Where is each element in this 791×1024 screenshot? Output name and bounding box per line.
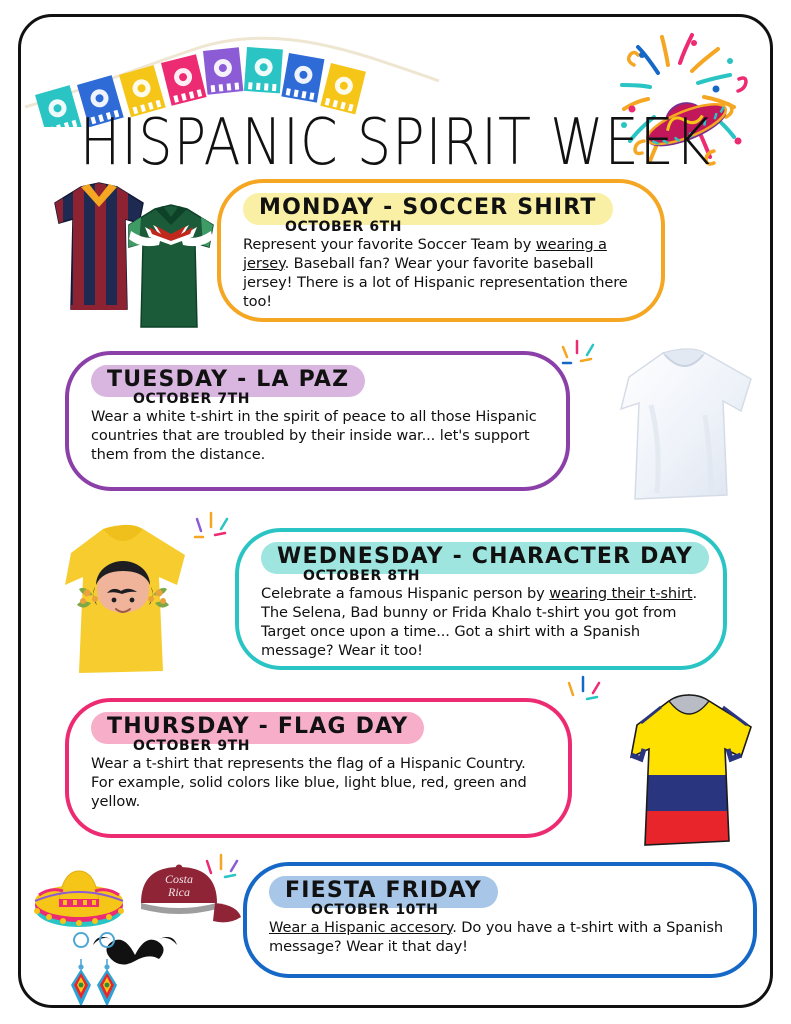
cap-brand-line1: Costa <box>165 872 193 886</box>
day-body-monday: Represent your favorite Soccer Team by w… <box>243 236 639 312</box>
frida-tshirt-image <box>43 515 213 687</box>
body-text-after: . Baseball fan? Wear your favorite baseb… <box>243 255 628 310</box>
day-date-friday: OCTOBER 10TH <box>311 903 731 917</box>
day-body-thursday: Wear a t-shirt that represents the flag … <box>91 755 546 812</box>
day-body-wednesday: Celebrate a famous Hispanic person by we… <box>261 585 701 661</box>
day-body-tuesday: Wear a white t-shirt in the spirit of pe… <box>91 408 544 465</box>
body-text-before: Wear a t-shirt that represents the flag … <box>91 755 527 810</box>
white-tshirt-image <box>599 339 773 509</box>
body-text-underlined: Wear a Hispanic accesory <box>269 919 452 936</box>
body-text-before: Wear a white t-shirt in the spirit of pe… <box>91 408 537 463</box>
body-text-underlined: wearing their t-shirt <box>549 585 692 602</box>
body-text-before: Celebrate a famous Hispanic person by <box>261 585 549 602</box>
confetti-sprinkle-icon <box>189 501 233 541</box>
body-text-before: Represent your favorite Soccer Team by <box>243 236 536 253</box>
day-body-friday: Wear a Hispanic accesory. Do you have a … <box>269 919 731 957</box>
day-card-tuesday: TUESDAY - LA PAZ OCTOBER 7TH Wear a whit… <box>65 351 570 491</box>
confetti-sprinkle-icon <box>557 329 601 369</box>
page-title: HISPANIC SPIRIT WEEK <box>21 105 770 179</box>
day-card-wednesday: WEDNESDAY - CHARACTER DAY OCTOBER 8TH Ce… <box>235 528 727 670</box>
day-card-thursday: THURSDAY - FLAG DAY OCTOBER 9TH Wear a t… <box>65 698 572 838</box>
colombia-jersey-image <box>607 685 773 857</box>
soccer-jerseys-image <box>39 175 221 335</box>
day-card-friday: FIESTA FRIDAY OCTOBER 10TH Wear a Hispan… <box>243 862 757 978</box>
poster-frame: HISPANIC SPIRIT WEEK <box>18 14 773 1008</box>
day-card-monday: MONDAY - SOCCER SHIRT OCTOBER 6TH Repres… <box>217 179 665 322</box>
confetti-sprinkle-icon <box>199 843 243 883</box>
confetti-sprinkle-icon <box>561 665 605 705</box>
cap-brand-line2: Rica <box>167 885 190 899</box>
